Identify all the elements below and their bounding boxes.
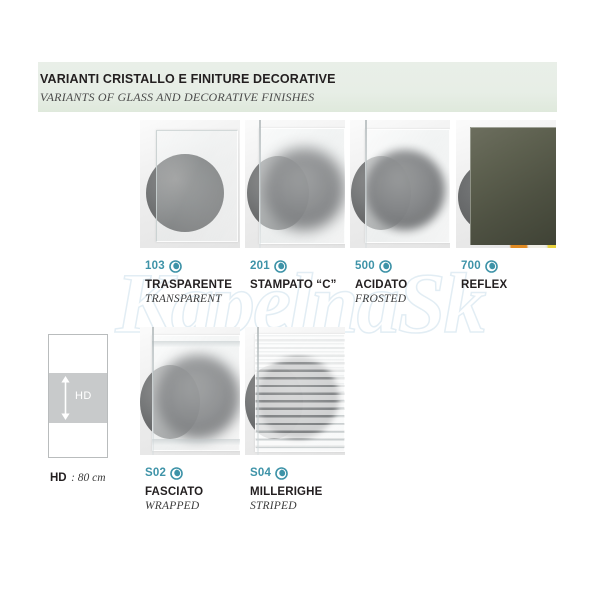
sample-700-thumbnail[interactable] (456, 120, 556, 248)
sample-name-it: STAMPATO “C” (250, 279, 337, 291)
sample-name-it: MILLERIGHE (250, 486, 322, 498)
glass-swatch-acidato (350, 120, 450, 248)
glass-swatch-transparent (140, 120, 240, 248)
sample-name-it: REFLEX (461, 279, 507, 291)
caption-S02: S02 FASCIATO WRAPPED (145, 466, 203, 512)
glass-finish-badge-icon (274, 260, 287, 273)
hd-caption-value: : 80 cm (71, 472, 106, 484)
glass-swatch-stampato-c (245, 120, 345, 248)
hd-height-arrow (61, 376, 70, 420)
sample-S02-thumbnail[interactable] (140, 327, 240, 455)
section-title-it: VARIANTI CRISTALLO E FINITURE DECORATIVE (40, 72, 336, 86)
pane-left-edge (152, 327, 154, 455)
glass-finish-badge-icon (379, 260, 392, 273)
glass-swatch-millerighe (245, 327, 345, 455)
sample-name-en: TRANSPARENT (145, 293, 232, 305)
glass-swatch-fasciato (140, 327, 240, 455)
sample-name-en: STRIPED (250, 500, 322, 512)
sample-500-thumbnail[interactable] (350, 120, 450, 248)
wrap-band-top (152, 341, 240, 347)
sample-code: 103 (145, 260, 165, 272)
sample-name-it: ACIDATO (355, 279, 407, 291)
section-title-en: VARIANTS OF GLASS AND DECORATIVE FINISHE… (40, 90, 314, 105)
caption-S04: S04 MILLERIGHE STRIPED (250, 466, 322, 512)
glass-swatch-reflex (456, 120, 556, 248)
sample-name-en: FROSTED (355, 293, 407, 305)
code-row-201: 201 (250, 259, 337, 273)
hd-band-label: HD (75, 390, 92, 402)
glass-finish-badge-icon (170, 467, 183, 480)
reflex-mirror-pane (470, 127, 556, 245)
sample-S04-thumbnail[interactable] (245, 327, 345, 455)
sample-code: 700 (461, 260, 481, 272)
code-row-700: 700 (461, 259, 507, 273)
page-root: KapelnaSk VARIANTI CRISTALLO E FINITURE … (0, 0, 600, 600)
pane-left-edge (365, 120, 367, 248)
caption-700: 700 REFLEX (461, 259, 507, 293)
sample-103-thumbnail[interactable] (140, 120, 240, 248)
sample-code: S02 (145, 467, 166, 479)
reference-sphere-through-glass (263, 148, 345, 230)
caption-103: 103 TRASPARENTE TRANSPARENT (145, 259, 232, 305)
code-row-103: 103 (145, 259, 232, 273)
sample-code: 201 (250, 260, 270, 272)
glass-finish-badge-icon (485, 260, 498, 273)
code-row-S02: S02 (145, 466, 203, 480)
caption-500: 500 ACIDATO FROSTED (355, 259, 407, 305)
sample-201-thumbnail[interactable] (245, 120, 345, 248)
wrap-band-bottom (152, 439, 240, 445)
glass-finish-badge-icon (169, 260, 182, 273)
sample-name-en: WRAPPED (145, 500, 203, 512)
hd-caption: HD : 80 cm (50, 468, 106, 486)
reference-sphere-through-glass (156, 355, 240, 439)
sample-code: S04 (250, 467, 271, 479)
sample-name-it: FASCIATO (145, 486, 203, 498)
striped-texture-overlay (255, 334, 345, 452)
glass-pane (156, 130, 238, 242)
reference-sphere-through-glass (365, 150, 445, 230)
code-row-S04: S04 (250, 466, 322, 480)
sample-name-it: TRASPARENTE (145, 279, 232, 291)
hd-caption-key: HD (50, 472, 67, 484)
pane-left-edge (259, 120, 261, 248)
hd-height-diagram: HD (48, 334, 108, 458)
pane-left-edge (257, 327, 259, 455)
sample-code: 500 (355, 260, 375, 272)
code-row-500: 500 (355, 259, 407, 273)
caption-201: 201 STAMPATO “C” (250, 259, 337, 293)
glass-finish-badge-icon (275, 467, 288, 480)
